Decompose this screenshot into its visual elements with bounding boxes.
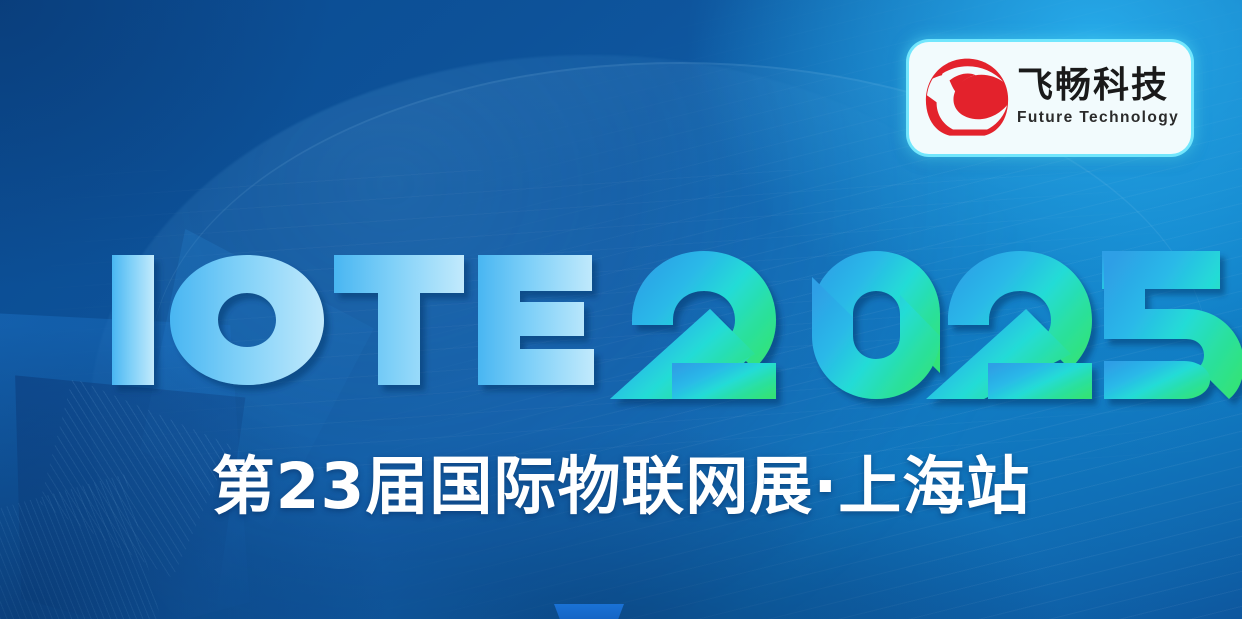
company-name-en: Future Technology [1017,109,1179,127]
iote-2025-wordmark [112,243,1102,398]
company-logo-text: 飞畅科技 Future Technology [1017,67,1179,130]
company-logo-badge[interactable]: 飞畅科技 Future Technology [909,42,1191,154]
company-name-cn: 飞畅科技 [1017,67,1179,105]
bottom-accent-tab [551,604,627,619]
feichang-emblem-icon [923,56,1011,140]
banner-subtitle: 第23届国际物联网展·上海站 [0,455,1242,518]
banner-canvas: 第23届国际物联网展·上海站 [0,0,1242,619]
